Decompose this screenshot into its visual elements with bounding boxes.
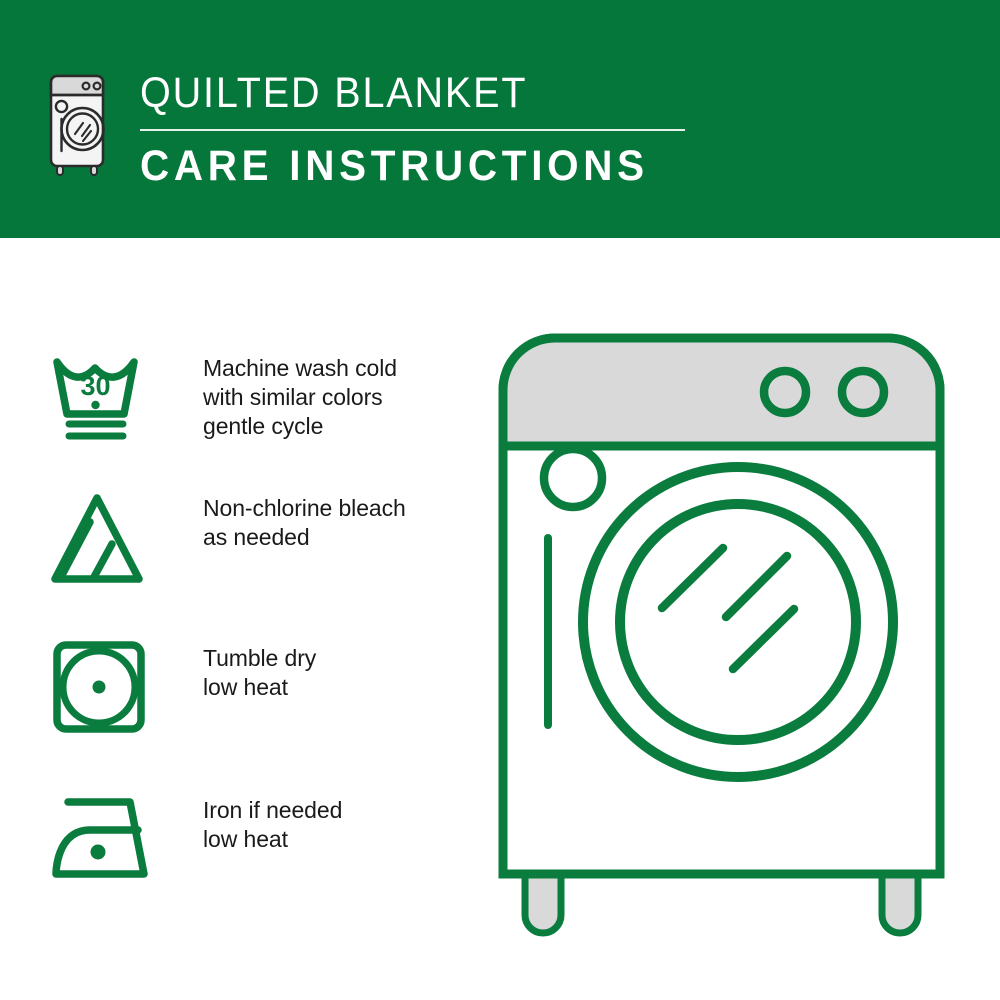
care-text-tumble-dry: Tumble dry low heat <box>203 638 316 702</box>
care-instruction-list: 30 Machine wash cold with similar colors… <box>0 238 480 1000</box>
care-text-bleach: Non-chlorine bleach as needed <box>203 488 406 552</box>
care-line: low heat <box>203 673 316 702</box>
care-line: Iron if needed <box>203 796 342 825</box>
care-line: Tumble dry <box>203 644 316 673</box>
care-item-bleach: Non-chlorine bleach as needed <box>50 488 470 593</box>
care-text-wash: Machine wash cold with similar colors ge… <box>203 348 397 441</box>
care-line: low heat <box>203 825 342 854</box>
control-panel <box>503 338 940 446</box>
svg-text:30: 30 <box>80 371 110 401</box>
care-line: with similar colors <box>203 383 397 412</box>
iron-low-heat-icon <box>50 790 155 895</box>
care-item-tumble-dry: Tumble dry low heat <box>50 638 470 743</box>
washing-machine-icon <box>45 67 113 179</box>
leg-right <box>882 870 918 933</box>
page-title: QUILTED BLANKET <box>140 68 655 118</box>
header-title-block: QUILTED BLANKET CARE INSTRUCTIONS <box>140 68 700 191</box>
washing-machine-illustration <box>495 330 975 940</box>
care-line: Machine wash cold <box>203 354 397 383</box>
care-line: as needed <box>203 523 406 552</box>
leg-left <box>525 870 561 933</box>
care-instructions-page: QUILTED BLANKET CARE INSTRUCTIONS <box>0 0 1000 1000</box>
title-divider <box>140 129 685 131</box>
care-line: Non-chlorine bleach <box>203 494 406 523</box>
tumble-dry-low-icon <box>50 638 155 743</box>
care-text-iron: Iron if needed low heat <box>203 790 342 854</box>
wash-tub-30-icon: 30 <box>50 348 155 453</box>
page-header: QUILTED BLANKET CARE INSTRUCTIONS <box>0 0 1000 238</box>
page-subtitle: CARE INSTRUCTIONS <box>140 141 666 191</box>
bleach-triangle-icon <box>50 488 155 593</box>
care-line: gentle cycle <box>203 412 397 441</box>
care-item-wash: 30 Machine wash cold with similar colors… <box>50 348 470 453</box>
care-item-iron: Iron if needed low heat <box>50 790 470 895</box>
